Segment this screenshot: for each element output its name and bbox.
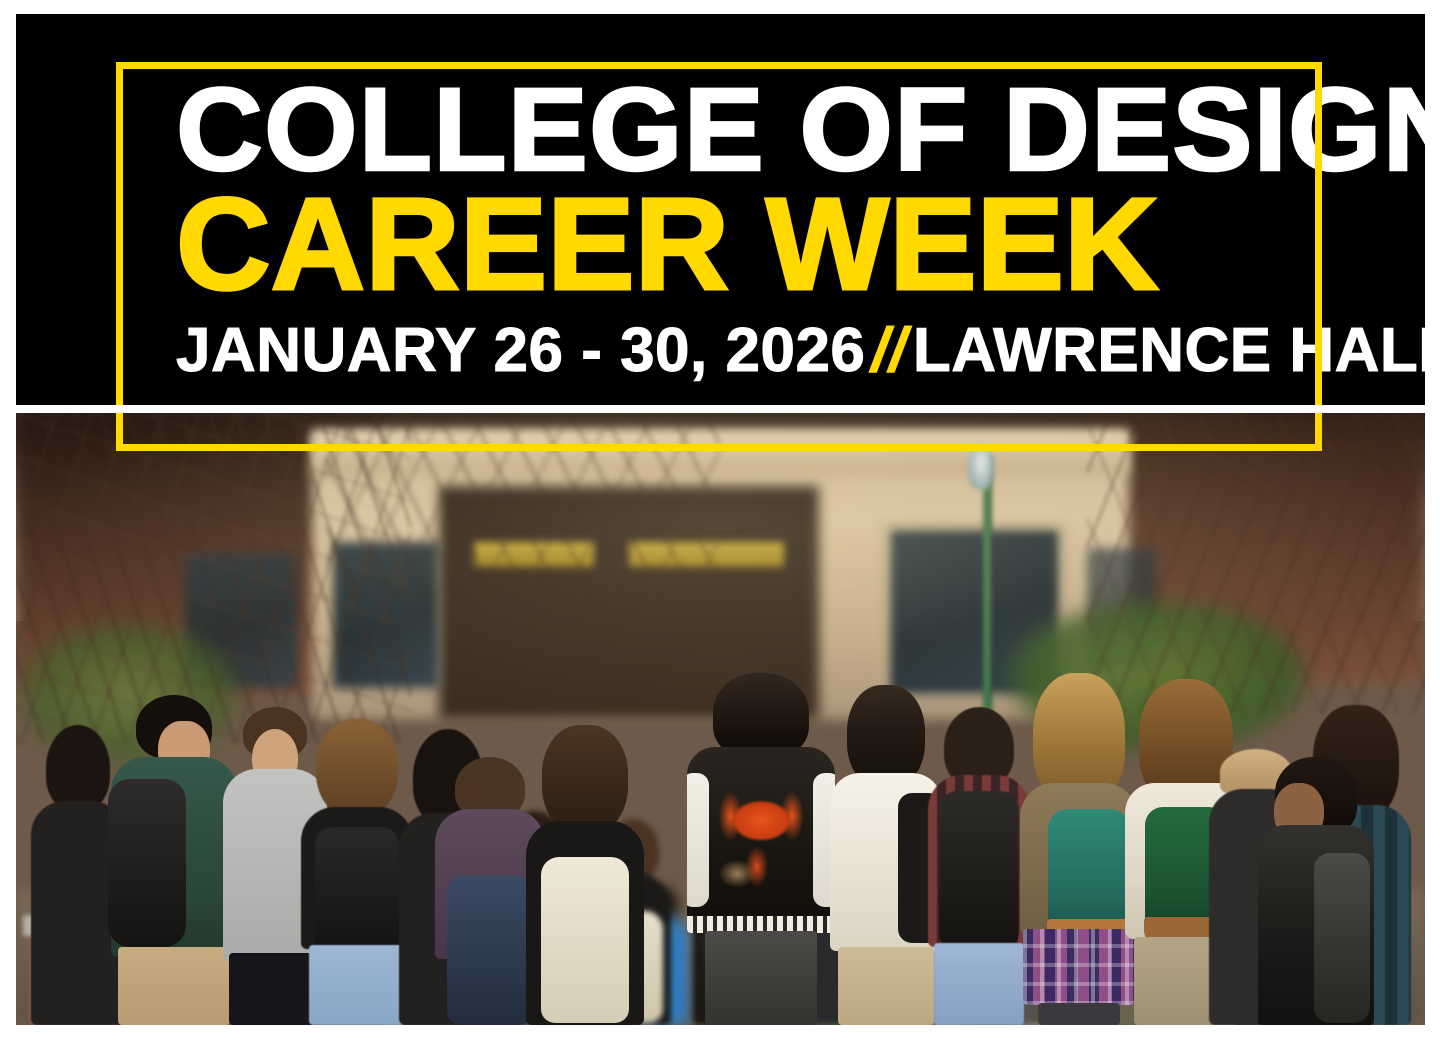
crowd-backpack xyxy=(541,857,629,1023)
title-block: COLLEGE OF DESIGN CAREER WEEK JANUARY 26… xyxy=(176,78,1276,382)
bottom-white-margin xyxy=(0,1025,1440,1044)
campus-crowd-photograph xyxy=(16,413,1425,1025)
right-white-margin xyxy=(1425,0,1440,1044)
page-title-line-college-of-design: COLLEGE OF DESIGN xyxy=(176,78,1298,182)
student-black-puffer-glasses xyxy=(1256,757,1376,1025)
left-white-margin xyxy=(0,0,16,1044)
crowd-backpack xyxy=(939,791,1019,947)
photo-crowd xyxy=(16,413,1425,1025)
crowd-backpack xyxy=(315,827,399,957)
event-venue: LAWRENCE HALL xyxy=(913,316,1440,385)
slash-separator-icon: // xyxy=(865,316,912,385)
crowd-backpack xyxy=(108,779,186,947)
crowd-backpack xyxy=(447,875,533,1025)
crowd-backpack xyxy=(1314,853,1370,1023)
page-title-line-career-week: CAREER WEEK xyxy=(176,186,1276,302)
event-dates: JANUARY 26 - 30, 2026 xyxy=(176,316,865,385)
poster-root: COLLEGE OF DESIGN CAREER WEEK JANUARY 26… xyxy=(0,0,1440,1044)
white-gap-strip xyxy=(0,405,1440,413)
crowd-person-near xyxy=(523,725,647,1025)
student-phoenix-jacket xyxy=(685,673,837,1025)
plaid-skirt xyxy=(1023,929,1135,1005)
phoenix-embroidery-icon xyxy=(707,777,817,892)
event-subtitle: JANUARY 26 - 30, 2026//LAWRENCE HALL xyxy=(176,320,1276,382)
